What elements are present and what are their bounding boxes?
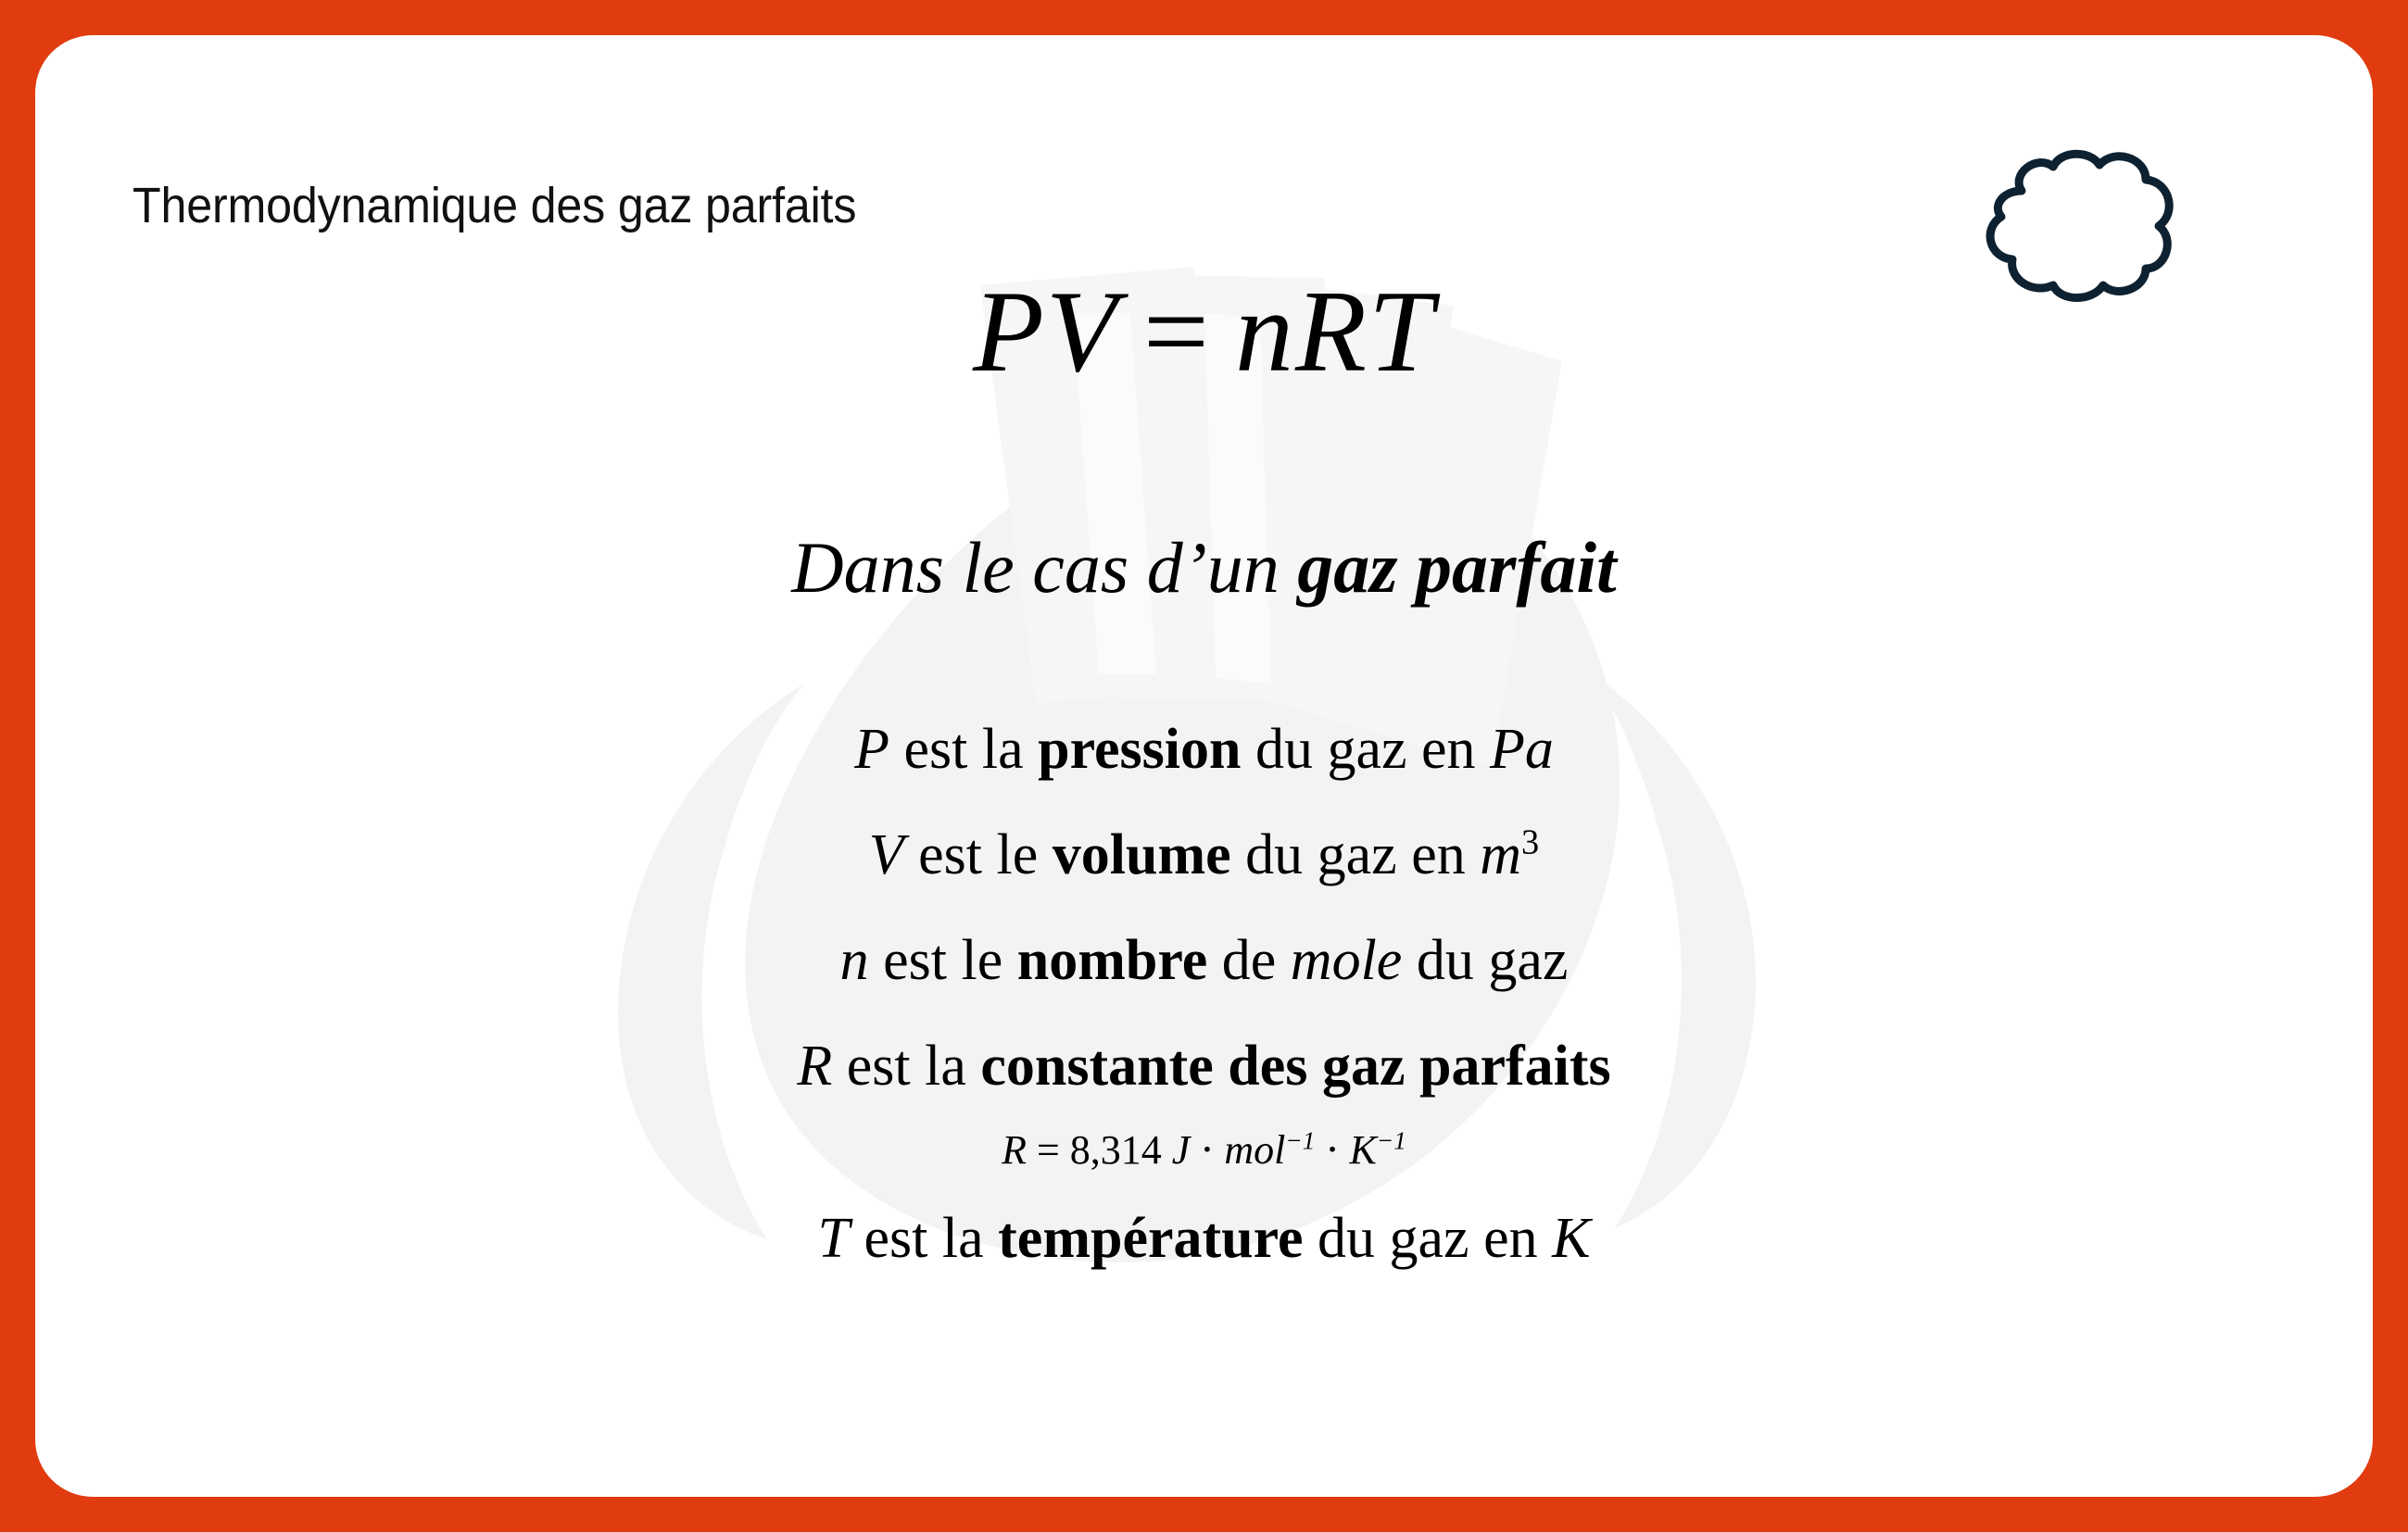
constant-dot-1: ⋅	[1190, 1127, 1224, 1173]
subtitle: Dans le cas d’un gaz parfait	[35, 532, 2373, 604]
unit-pa: Pa	[1490, 718, 1554, 781]
unit-mole: mole	[1291, 929, 1403, 992]
equation-right: nRT	[1235, 268, 1435, 396]
slide-frame: Thermodynamique des gaz parfaits PV=nRT …	[0, 0, 2408, 1532]
term-temperature: température	[998, 1207, 1303, 1270]
symbol-r: R	[797, 1035, 832, 1098]
equation-left: PV	[973, 268, 1119, 396]
connector-t: est la	[850, 1207, 998, 1270]
subtitle-lead: Dans le cas d’un	[791, 527, 1297, 608]
definition-list: P est la pression du gaz en Pa V est le …	[35, 721, 2373, 1267]
definition-row-pressure: P est la pression du gaz en Pa	[35, 721, 2373, 778]
term-volume: volume	[1053, 823, 1231, 886]
symbol-t: T	[818, 1207, 850, 1270]
unit-m: m	[1480, 823, 1521, 886]
tail-t: du gaz en	[1304, 1207, 1553, 1270]
unit-k: K	[1552, 1207, 1590, 1270]
constant-equals: =	[1027, 1127, 1070, 1173]
unit-m-exponent: 3	[1521, 823, 1539, 861]
slide-card: Thermodynamique des gaz parfaits PV=nRT …	[35, 35, 2373, 1497]
subtitle-emphasis: gaz parfait	[1297, 527, 1617, 608]
constant-dot-2: ⋅	[1315, 1127, 1349, 1173]
definition-row-temperature: T est la température du gaz en K	[35, 1210, 2373, 1267]
connector-p: est la	[889, 718, 1038, 781]
constant-mol-exponent: −1	[1285, 1126, 1315, 1154]
definition-row-mole: n est le nombre de mole du gaz	[35, 932, 2373, 989]
constant-symbol: R	[1002, 1127, 1027, 1173]
connector-r: est la	[832, 1035, 980, 1098]
term-constante: constante des gaz parfaits	[980, 1035, 1610, 1098]
tail-n: de	[1207, 929, 1291, 992]
page-title: Thermodynamique des gaz parfaits	[132, 179, 856, 233]
term-pressure: pression	[1038, 718, 1241, 781]
main-equation: PV=nRT	[35, 274, 2373, 391]
tail-v: du gaz en	[1231, 823, 1481, 886]
constant-unit-kelvin: K	[1350, 1127, 1377, 1173]
definition-row-constant: R est la constante des gaz parfaits	[35, 1037, 2373, 1095]
symbol-p: P	[854, 718, 889, 781]
connector-v: est le	[904, 823, 1053, 886]
constant-value-expression: R = 8,314 J ⋅ mol−1 ⋅ K−1	[35, 1130, 2373, 1171]
constant-unit-joule: J	[1172, 1127, 1191, 1173]
definition-row-volume: V est le volume du gaz en m3	[35, 826, 2373, 884]
symbol-v: V	[869, 823, 904, 886]
term-nombre: nombre	[1017, 929, 1208, 992]
connector-n: est le	[869, 929, 1017, 992]
tail-p: du gaz en	[1241, 718, 1490, 781]
equation-operator: =	[1119, 268, 1235, 396]
constant-k-exponent: −1	[1377, 1126, 1406, 1154]
trailing-n: du gaz	[1402, 929, 1568, 992]
constant-unit-mol: mol	[1224, 1127, 1285, 1173]
constant-number: 8,314	[1070, 1127, 1162, 1173]
symbol-n: n	[840, 929, 869, 992]
